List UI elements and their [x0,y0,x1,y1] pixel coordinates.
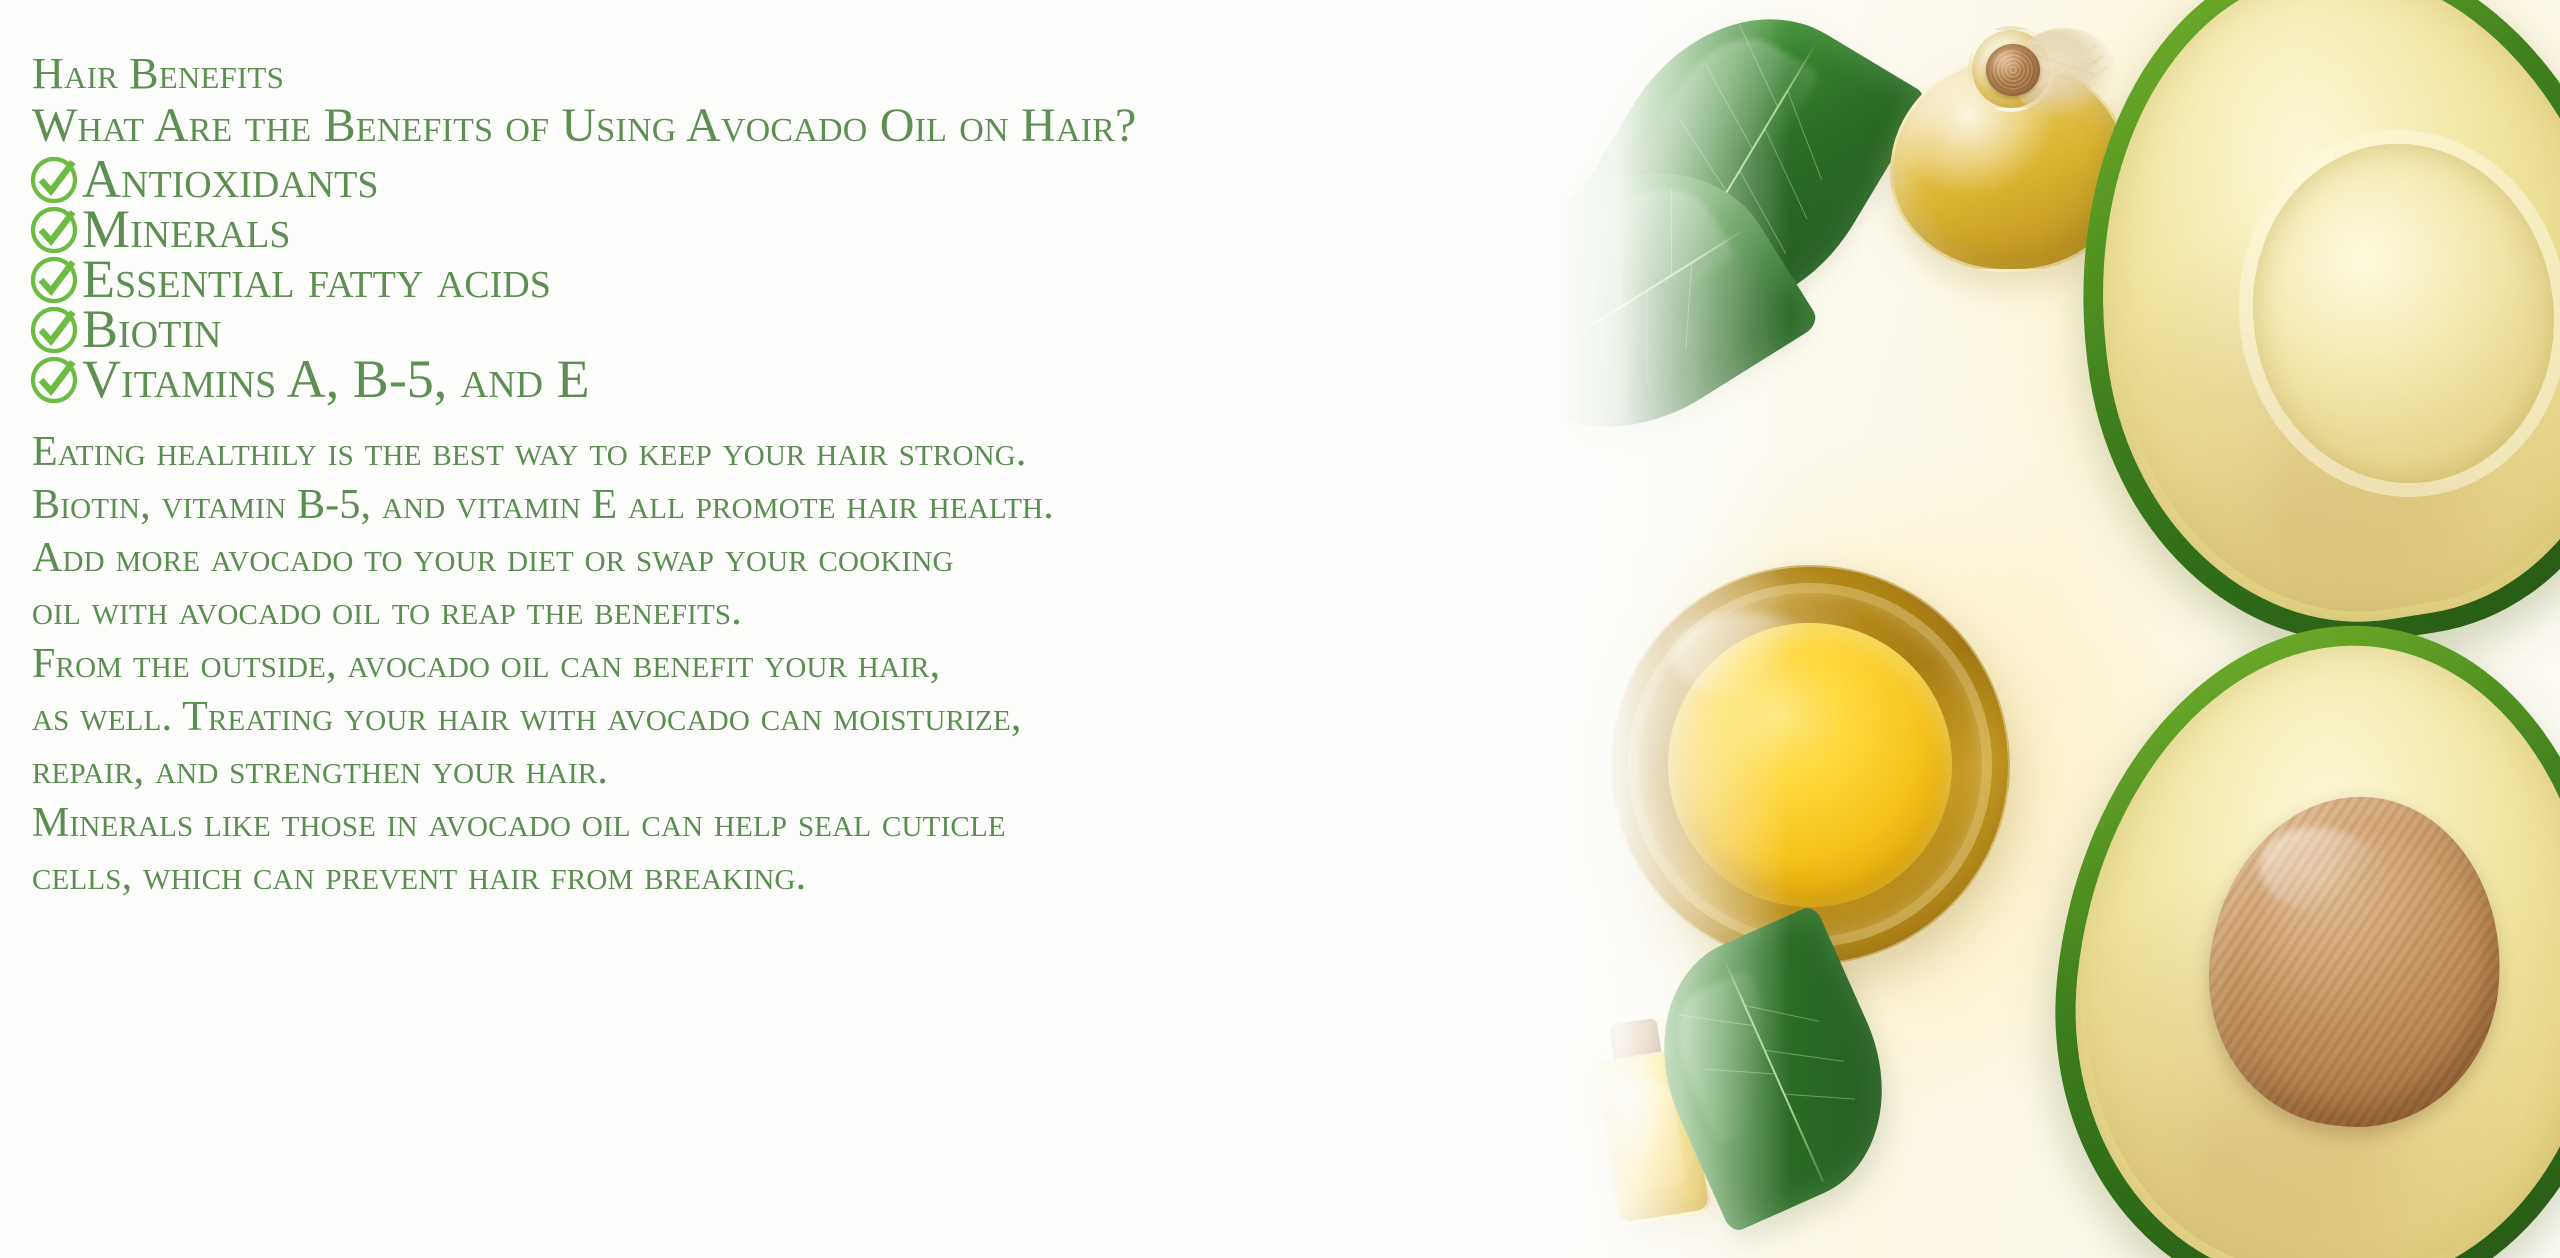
list-item-label: Vitamins A, B-5, and E [82,352,590,406]
check-circle-icon [28,353,80,405]
text-panel: Hair Benefits What Are the Benefits of U… [0,0,1760,1258]
list-item: Essential fatty acids [30,254,1760,304]
list-item-label: Essential fatty acids [82,252,551,306]
body-line: Add more avocado to your diet or swap yo… [32,532,1760,585]
list-item-label: Minerals [82,202,290,256]
body-line: Biotin, vitamin B-5, and vitamin E all p… [32,479,1760,532]
benefits-list: Antioxidants Minerals [30,154,1760,404]
page-title: What Are the Benefits of Using Avocado O… [32,102,1760,150]
body-line: cells, which can prevent hair from break… [32,850,1760,903]
infographic-poster: Hair Benefits What Are the Benefits of U… [0,0,2560,1258]
body-copy: Eating healthily is the best way to keep… [32,426,1760,903]
avocado-half-top-icon [2029,0,2560,680]
check-circle-icon [28,153,80,205]
page-kicker: Hair Benefits [32,52,1760,96]
list-item: Minerals [30,204,1760,254]
avocado-half-bottom-icon [2026,598,2560,1258]
list-item: Vitamins A, B-5, and E [30,354,1760,404]
body-line: Eating healthily is the best way to keep… [32,426,1760,479]
body-line: oil with avocado oil to reap the benefit… [32,585,1760,638]
body-line: Minerals like those in avocado oil can h… [32,797,1760,850]
list-item: Antioxidants [30,154,1760,204]
list-item-label: Antioxidants [82,152,379,206]
check-circle-icon [28,253,80,305]
list-item-label: Biotin [82,302,221,356]
list-item: Biotin [30,304,1760,354]
check-circle-icon [28,203,80,255]
body-line: repair, and strengthen your hair. [32,744,1760,797]
body-line: From the outside, avocado oil can benefi… [32,638,1760,691]
bottle-cork [1986,44,2040,96]
check-circle-icon [28,303,80,355]
body-line: as well. Treating your hair with avocado… [32,691,1760,744]
